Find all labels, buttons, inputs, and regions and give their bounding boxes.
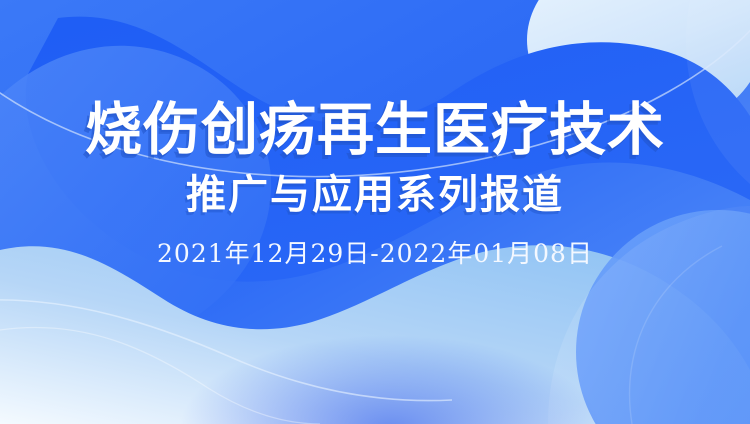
date-range-label: 2021年12月29日-2022年01月08日 (157, 240, 593, 268)
page-subtitle: 推广与应用系列报道 (186, 174, 564, 217)
promo-banner: 烧伤创疡再生医疗技术 推广与应用系列报道 2021年12月29日-2022年01… (0, 0, 750, 424)
banner-text-stack: 烧伤创疡再生医疗技术 推广与应用系列报道 2021年12月29日-2022年01… (0, 0, 750, 424)
page-title: 烧伤创疡再生医疗技术 (85, 100, 665, 160)
